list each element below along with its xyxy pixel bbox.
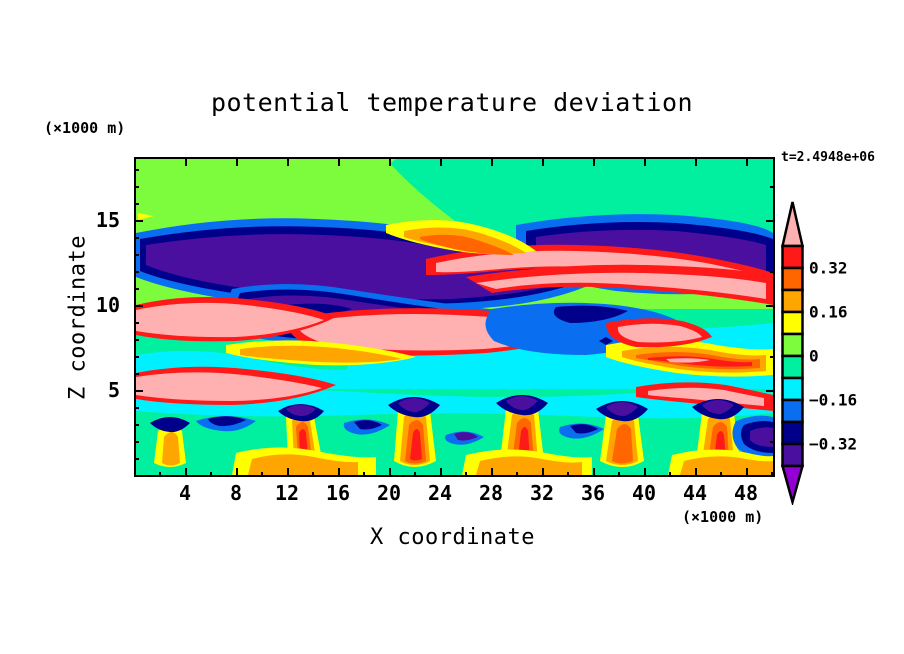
y-tick-minor [134,339,139,341]
y-tick-minor [134,373,139,375]
x-tick-label: 40 [632,481,656,505]
x-tick-minor [720,472,722,477]
x-tick-major-top [185,157,187,166]
x-tick-major-top [746,157,748,166]
x-tick-major-top [644,157,646,166]
x-tick-minor [567,472,569,477]
colorbar-tick-label: 0.32 [809,259,848,278]
y-tick-label: 5 [108,378,120,402]
y-tick-label: 15 [96,208,120,232]
x-tick-label: 24 [428,481,452,505]
x-tick-minor [159,472,161,477]
x-tick-major [440,468,442,477]
x-tick-label: 48 [734,481,758,505]
y-tick-minor [134,322,139,324]
x-tick-major [287,468,289,477]
y-tick-minor [134,169,139,171]
x-tick-minor [261,472,263,477]
y-tick-minor [134,254,139,256]
y-tick-minor-right [770,441,775,443]
y-tick-minor-right [770,356,775,358]
x-tick-major [746,468,748,477]
x-tick-label: 32 [530,481,554,505]
x-tick-major-top [491,157,493,166]
y-tick-major-right [766,220,775,222]
x-tick-label: 8 [230,481,242,505]
y-tick-major-right [766,305,775,307]
y-tick-minor-right [770,271,775,273]
x-tick-major [389,468,391,477]
colorbar-tick-label: −0.16 [809,391,857,410]
y-tick-minor [134,407,139,409]
x-tick-minor [210,472,212,477]
x-tick-label: 4 [179,481,191,505]
time-annotation: t=2.4948e+06 [781,150,875,165]
x-tick-label: 16 [326,481,350,505]
x-tick-major [593,468,595,477]
x-tick-minor [618,472,620,477]
x-tick-label: 28 [479,481,503,505]
y-tick-major-right [766,390,775,392]
colorbar-tick-label: 0 [809,347,819,366]
x-tick-minor [516,472,518,477]
y-tick-minor [134,288,139,290]
y-tick-minor [134,458,139,460]
y-tick-minor [134,441,139,443]
x-tick-major [236,468,238,477]
y-tick-minor [134,271,139,273]
x-tick-major [542,468,544,477]
x-tick-major-top [695,157,697,166]
x-tick-label: 36 [581,481,605,505]
colorbar-tick-label: −0.32 [809,435,857,454]
x-tick-major [695,468,697,477]
y-tick-minor [134,424,139,426]
y-tick-minor [134,237,139,239]
x-tick-major-top [236,157,238,166]
colorbar-swatches [781,200,811,505]
x-tick-major-top [440,157,442,166]
x-tick-minor [771,472,773,477]
x-tick-major [644,468,646,477]
x-axis-units-label: (×1000 m) [682,508,763,526]
x-tick-major [185,468,187,477]
x-tick-major-top [287,157,289,166]
page-title: potential temperature deviation [0,88,904,117]
x-tick-minor [465,472,467,477]
x-tick-minor [669,472,671,477]
y-tick-major [134,305,143,307]
x-tick-minor [363,472,365,477]
contour-field [136,159,773,475]
y-tick-minor [134,203,139,205]
y-tick-major [134,220,143,222]
x-tick-major [338,468,340,477]
y-tick-major [134,390,143,392]
colorbar-tick-label: 0.16 [809,303,848,322]
y-axis-units-label: (×1000 m) [44,119,125,137]
x-tick-major-top [542,157,544,166]
x-tick-major-top [389,157,391,166]
x-tick-major [491,468,493,477]
x-tick-label: 20 [377,481,401,505]
x-axis-title: X coordinate [134,525,771,550]
x-tick-label: 12 [275,481,299,505]
y-tick-minor [134,356,139,358]
y-tick-label: 10 [96,293,120,317]
y-axis-title: Z coordinate [66,178,91,458]
contour-plot-area[interactable]: 4 8 12 16 20 24 28 32 36 40 44 48 5 10 1… [134,157,775,477]
x-tick-minor [312,472,314,477]
x-tick-major-top [593,157,595,166]
y-tick-minor [134,186,139,188]
figure-canvas: potential temperature deviation (×1000 m… [0,0,904,654]
y-tick-minor-right [770,186,775,188]
x-tick-label: 44 [683,481,707,505]
x-tick-major-top [338,157,340,166]
x-tick-minor [414,472,416,477]
